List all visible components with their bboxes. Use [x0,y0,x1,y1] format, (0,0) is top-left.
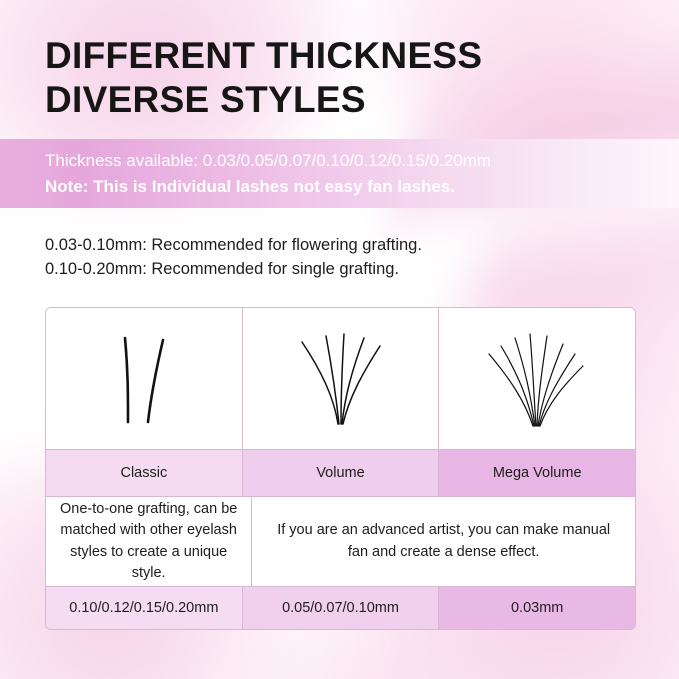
label-cell-mega-volume: Mega Volume [439,449,635,496]
mega-volume-lash-icon [467,324,607,434]
banner-thickness-text: Thickness available: 0.03/0.05/0.07/0.10… [0,148,679,174]
volume-lash-icon [276,324,406,434]
size-cell-mega-volume: 0.03mm [439,586,635,629]
thickness-banner: Thickness available: 0.03/0.05/0.07/0.10… [0,139,679,208]
label-cell-volume: Volume [243,449,440,496]
table-row-images [46,308,635,449]
table-row-descriptions: One-to-one grafting, can be matched with… [46,496,635,586]
lash-style-sizes: 0.10/0.12/0.15/0.20mm [69,600,218,616]
lash-style-description: One-to-one grafting, can be matched with… [60,499,237,583]
table-row-sizes: 0.10/0.12/0.15/0.20mm 0.05/0.07/0.10mm 0… [46,586,635,629]
lash-style-label: Mega Volume [493,465,582,481]
lash-style-description: If you are an advanced artist, you can m… [266,520,621,562]
product-infographic: DIFFERENT THICKNESS DIVERSE STYLES Thick… [0,0,679,679]
size-cell-classic: 0.10/0.12/0.15/0.20mm [46,586,243,629]
label-cell-classic: Classic [46,449,243,496]
note-line-1: 0.03-0.10mm: Recommended for flowering g… [45,234,422,258]
volume-lash-cell [243,308,440,449]
description-cell-volume-mega: If you are an advanced artist, you can m… [252,496,635,586]
lash-style-sizes: 0.03mm [511,600,563,616]
page-title: DIFFERENT THICKNESS DIVERSE STYLES [45,34,482,121]
lash-style-sizes: 0.05/0.07/0.10mm [282,600,399,616]
classic-lash-cell [46,308,243,449]
description-cell-classic: One-to-one grafting, can be matched with… [46,496,252,586]
lash-style-table: Classic Volume Mega Volume One-to-one gr… [45,307,636,630]
banner-note-text: Note: This is Individual lashes not easy… [0,174,679,200]
classic-lash-icon [84,324,204,434]
size-cell-volume: 0.05/0.07/0.10mm [243,586,440,629]
page-title-line-2: DIVERSE STYLES [45,78,482,122]
lash-style-label: Classic [120,465,167,481]
mega-volume-lash-cell [439,308,635,449]
note-line-2: 0.10-0.20mm: Recommended for single graf… [45,258,422,282]
lash-style-label: Volume [316,465,364,481]
recommendation-notes: 0.03-0.10mm: Recommended for flowering g… [45,234,422,282]
table-row-labels: Classic Volume Mega Volume [46,449,635,496]
page-title-line-1: DIFFERENT THICKNESS [45,35,482,76]
